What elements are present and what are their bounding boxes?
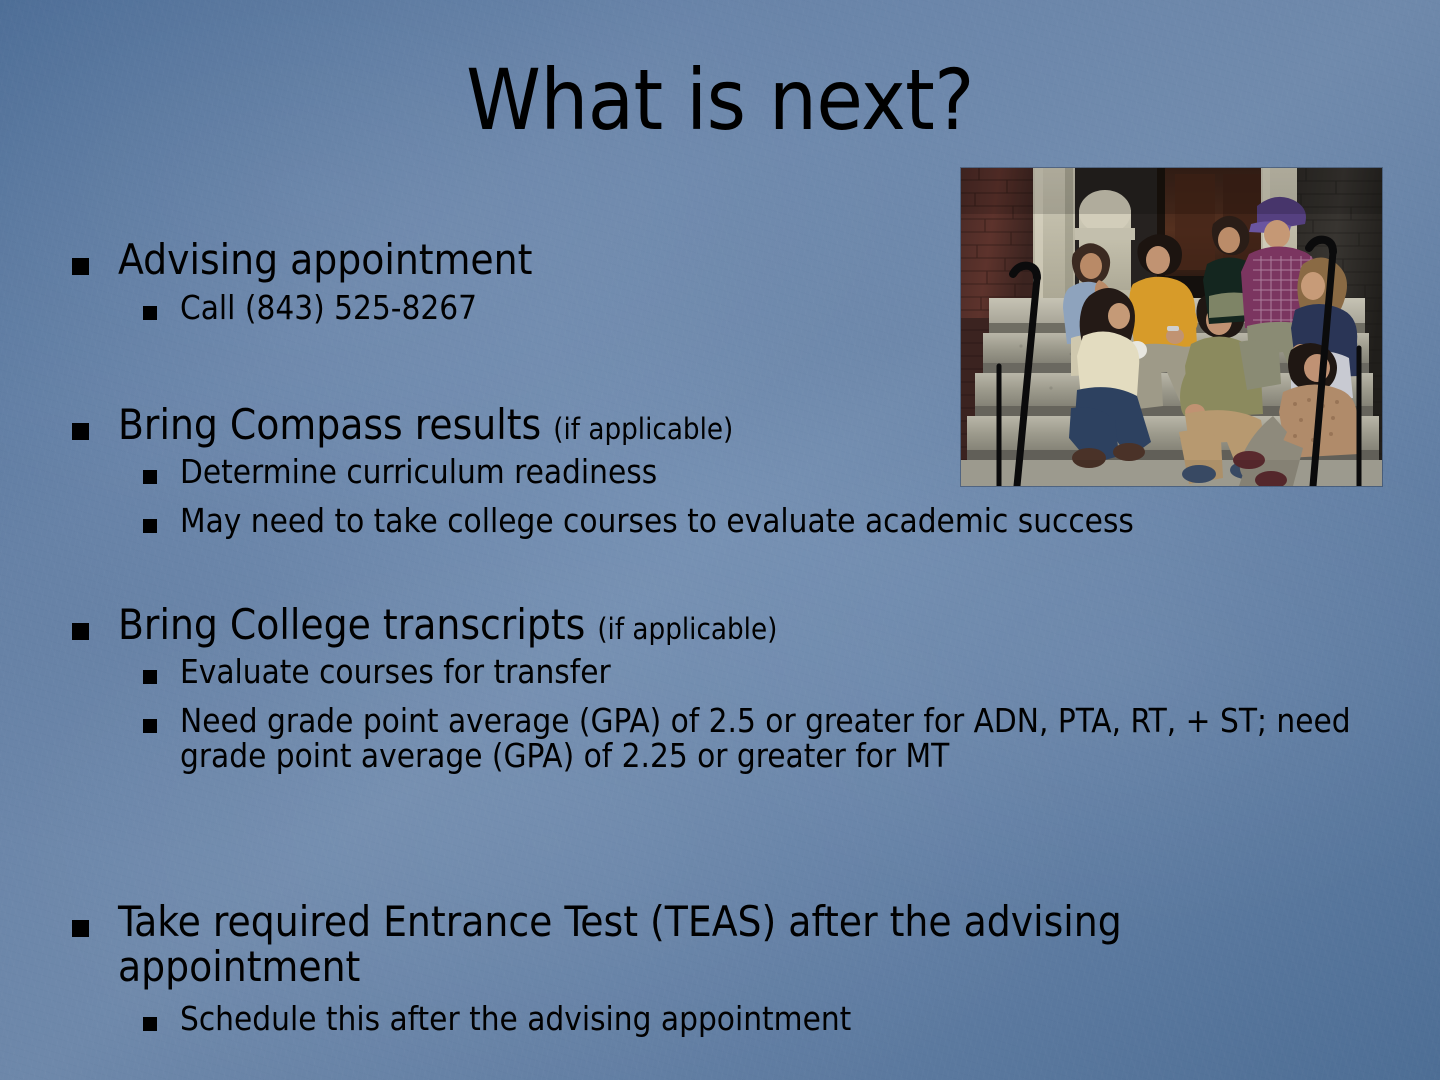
square-bullet-icon [143,1017,157,1031]
square-bullet-icon [72,258,89,275]
square-bullet-icon [143,670,157,684]
bullet-text: Bring College transcripts [118,600,585,649]
bullet-note: (if applicable) [597,612,777,646]
bullet-text: Call (843) 525-8267 [180,288,477,327]
bullet-group-1: Advising appointment Call (843) 525-8267 [0,238,1400,326]
bullet-text: Determine curriculum readiness [180,452,657,491]
bullet-l2-schedule-after-advising: Schedule this after the advising appoint… [0,1002,1300,1037]
bullet-l1-bring-college-transcripts: Bring College transcripts (if applicable… [0,603,1400,648]
bullet-l2-gpa-requirement: Need grade point average (GPA) of 2.5 or… [0,704,1440,774]
bullet-group-3: Bring College transcripts (if applicable… [0,603,1400,774]
bullet-l1-advising-appointment: Advising appointment [0,238,1400,283]
bullet-text: Advising appointment [118,235,532,284]
square-bullet-icon [72,623,89,640]
bullet-text: Need grade point average (GPA) of 2.5 or… [180,701,1351,775]
square-bullet-icon [143,719,157,733]
square-bullet-icon [143,519,157,533]
bullet-note: (if applicable) [553,412,733,446]
square-bullet-icon [143,306,157,320]
square-bullet-icon [143,470,157,484]
bullet-l1-take-teas-test: Take required Entrance Test (TEAS) after… [0,900,1318,990]
bullet-text: May need to take college courses to eval… [180,501,1134,540]
bullet-l2-determine-curriculum-readiness: Determine curriculum readiness [0,455,1400,490]
square-bullet-icon [72,920,89,937]
bullet-l2-may-need-college-courses: May need to take college courses to eval… [0,504,1400,539]
bullet-group-2: Bring Compass results (if applicable) De… [0,403,1400,539]
square-bullet-icon [72,423,89,440]
bullet-text: Evaluate courses for transfer [180,652,611,691]
bullet-group-4: Take required Entrance Test (TEAS) after… [0,900,1300,1037]
slide: What is next? [0,0,1440,1080]
slide-title: What is next? [0,58,1440,142]
bullet-text: Take required Entrance Test (TEAS) after… [118,897,1122,991]
bullet-l1-bring-compass-results: Bring Compass results (if applicable) [0,403,1400,448]
bullet-l2-call-number: Call (843) 525-8267 [0,291,1400,326]
bullet-text: Bring Compass results [118,400,541,449]
bullet-text: Schedule this after the advising appoint… [180,999,851,1038]
bullet-l2-evaluate-courses-for-transfer: Evaluate courses for transfer [0,655,1400,690]
